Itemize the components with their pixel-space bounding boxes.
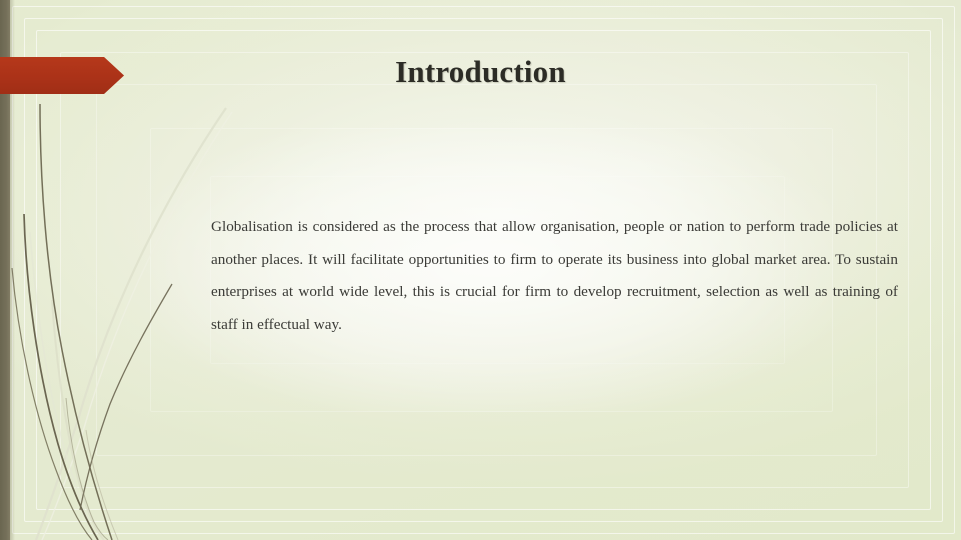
body-paragraph: Globalisation is considered as the proce…	[211, 211, 898, 341]
page-title: Introduction	[0, 54, 961, 90]
slide-canvas: Introduction Globalisation is considered…	[0, 0, 961, 540]
